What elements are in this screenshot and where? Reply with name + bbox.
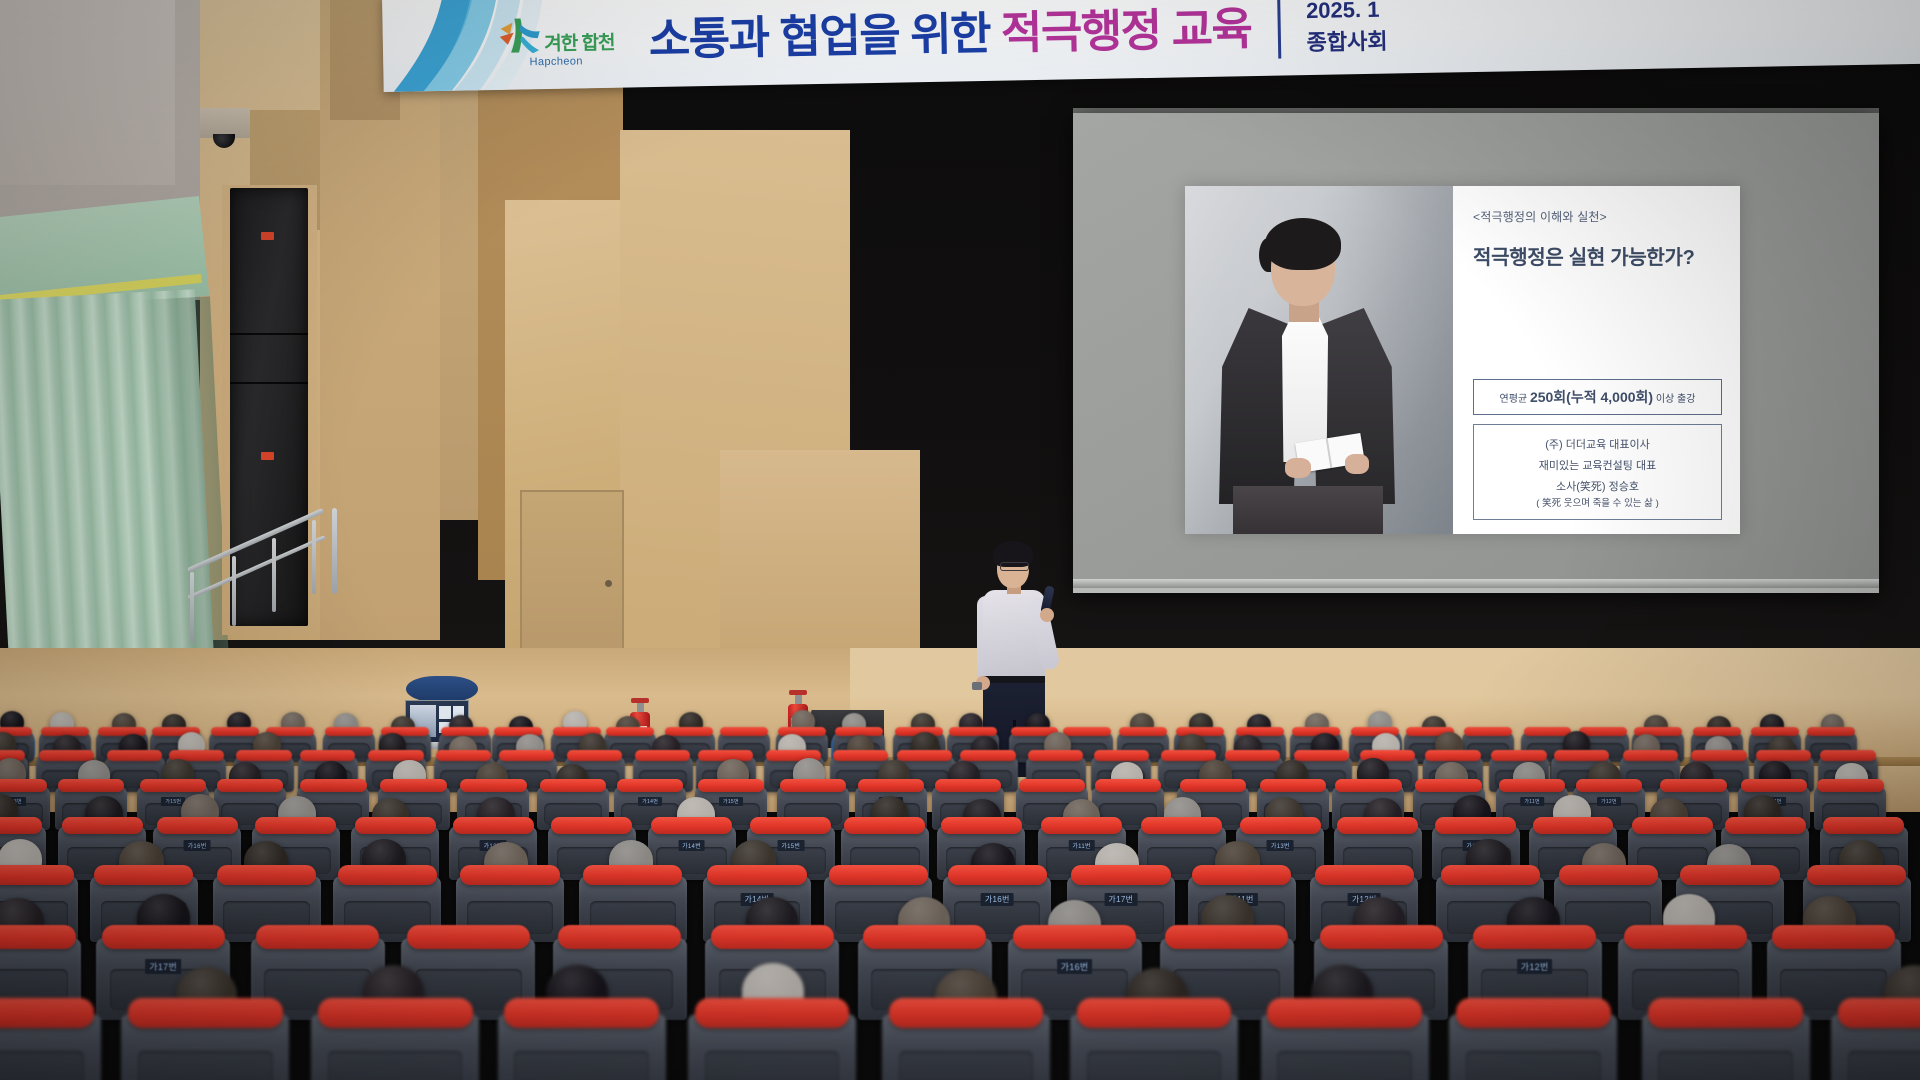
- handrail-post-2: [232, 556, 236, 626]
- seat-cushion: [0, 865, 74, 885]
- handrail-post-1: [190, 572, 194, 642]
- seat-back-panel: [1277, 1051, 1411, 1080]
- seat-cushion: [665, 727, 713, 736]
- banner-title: 소통과 협업을 위한 적극행정 교육: [648, 6, 1251, 62]
- seat-cushion: [1807, 865, 1906, 885]
- seat-back-panel: [328, 1051, 462, 1080]
- seat-cushion: [780, 779, 846, 792]
- slide-kicker: <적극행정의 이해와 실천>: [1473, 208, 1722, 225]
- stat-emphasis: 250회(누적 4,000회): [1530, 389, 1653, 405]
- seat-cushion: [1337, 817, 1418, 833]
- seat-cushion: [1240, 817, 1321, 833]
- speaker-seam-1: [230, 333, 308, 335]
- slide-credits-box: (주) 더더교육 대표이사 재미있는 교육컨설팅 대표 소사(笑死) 정승호 (…: [1473, 424, 1722, 520]
- seat-back-panel: [1658, 1051, 1792, 1080]
- seat-cushion: [407, 925, 530, 950]
- slide-lecturer-photo: [1185, 186, 1453, 534]
- seat-cushion: [1441, 865, 1540, 885]
- seat-cushion: [1817, 779, 1883, 792]
- water-mark-icon: [497, 14, 542, 55]
- seat-cushion: [0, 817, 42, 833]
- seat-cushion: [1691, 750, 1746, 761]
- seat-cushion: [617, 779, 683, 792]
- seat-cushion: [1180, 779, 1246, 792]
- seat-cushion: [1435, 817, 1516, 833]
- presenter-hand-right: [1040, 608, 1054, 622]
- presenter-glasses-icon: [1000, 562, 1029, 571]
- seat-cushion: [1165, 925, 1288, 950]
- seat-cushion: [1838, 998, 1920, 1027]
- seat-cushion: [829, 865, 928, 885]
- seat-cushion: [1335, 779, 1401, 792]
- credit-line-3: 소사(笑死) 정승호: [1480, 477, 1715, 498]
- seat-cushion: [102, 925, 225, 950]
- seat-number-plate: 가12번: [1517, 959, 1553, 974]
- seat-cushion: [1751, 727, 1799, 736]
- seat-number-plate: 가14번: [638, 797, 662, 806]
- handrail-post-5: [332, 508, 337, 594]
- seat-cushion: [863, 925, 986, 950]
- seat-cushion: [698, 779, 764, 792]
- seat-cushion: [338, 865, 437, 885]
- seat-cushion: [949, 727, 997, 736]
- seat-cushion: [62, 817, 143, 833]
- seat-cushion: [833, 750, 888, 761]
- seat-cushion: [217, 865, 316, 885]
- logo-english-text: Hapcheon: [529, 55, 583, 68]
- seat-cushion: [1456, 998, 1611, 1027]
- seat-cushion: [635, 750, 690, 761]
- seat-number-plate: 가15번: [777, 840, 804, 851]
- seat-cushion: [58, 779, 124, 792]
- seat-cushion: [1267, 998, 1422, 1027]
- seat-cushion: [1680, 865, 1779, 885]
- seat-cushion: [1491, 750, 1546, 761]
- auditorium-seat[interactable]: [1070, 1014, 1238, 1080]
- seat-cushion: [1823, 817, 1904, 833]
- seat-cushion: [1161, 750, 1216, 761]
- presentation-slide: <적극행정의 이해와 실천> 적극행정은 실현 가능한가? 연평균 250회(누…: [1185, 186, 1740, 534]
- seat-cushion: [844, 817, 925, 833]
- credit-line-4: ( 笑死 웃으며 죽을 수 있는 삶 ): [1480, 498, 1715, 510]
- seat-cushion: [1176, 727, 1224, 736]
- seat-number-plate: 가16번: [981, 893, 1014, 906]
- seat-back-panel: [1848, 1051, 1920, 1080]
- photo-trousers: [1233, 486, 1383, 534]
- slide-title: 적극행정은 실현 가능한가?: [1473, 241, 1722, 270]
- auditorium-seat[interactable]: [0, 1014, 101, 1080]
- slide-stat-box: 연평균 250회(누적 4,000회) 이상 출강: [1473, 379, 1722, 415]
- seat-cushion: [1464, 727, 1512, 736]
- seat-cushion: [1559, 865, 1658, 885]
- seat-cushion: [128, 998, 283, 1027]
- seat-cushion: [1473, 925, 1596, 950]
- seat-number-plate: 가17번: [145, 959, 181, 974]
- seat-cushion: [1260, 779, 1326, 792]
- seat-cushion: [1576, 779, 1642, 792]
- seat-cushion: [695, 998, 850, 1027]
- slide-text-column: <적극행정의 이해와 실천> 적극행정은 실현 가능한가? 연평균 250회(누…: [1453, 186, 1740, 534]
- credit-line-1: (주) 더더교육 대표이사: [1480, 435, 1715, 456]
- seat-cushion: [39, 750, 94, 761]
- seat-cushion: [1632, 817, 1713, 833]
- auditorium-seat[interactable]: [121, 1014, 289, 1080]
- seat-back-panel: [899, 1051, 1033, 1080]
- seat-cushion: [551, 817, 632, 833]
- seat-cushion: [499, 750, 554, 761]
- seat-cushion: [750, 817, 831, 833]
- seat-number-plate: 가15번: [719, 797, 743, 806]
- seat-cushion: [94, 865, 193, 885]
- seat-back-panel: [1466, 1051, 1600, 1080]
- seat-cushion: [897, 750, 952, 761]
- seat-cushion: [453, 817, 534, 833]
- seat-cushion: [1554, 750, 1609, 761]
- seat-cushion: [720, 727, 768, 736]
- logo-korean-text: 겨한 합천: [544, 34, 615, 54]
- auditorium-photo: <적극행정의 이해와 실천> 적극행정은 실현 가능한가? 연평균 250회(누…: [0, 0, 1920, 1080]
- seat-cushion: [1063, 727, 1111, 736]
- seat-cushion: [1141, 817, 1222, 833]
- seat-cushion: [211, 727, 259, 736]
- auditorium-seat[interactable]: [1449, 1014, 1617, 1080]
- auditorium-seat[interactable]: [1831, 1014, 1920, 1080]
- seat-cushion: [460, 865, 559, 885]
- seat-cushion: [1095, 779, 1161, 792]
- jbl-logo-icon-2: [261, 452, 274, 460]
- seat-cushion: [355, 817, 436, 833]
- presenter-belt: [983, 676, 1045, 683]
- seat-cushion: [1660, 779, 1726, 792]
- seat-cushion: [1415, 779, 1481, 792]
- auditorium-seat[interactable]: [1261, 1014, 1429, 1080]
- auditorium-seat[interactable]: [311, 1014, 479, 1080]
- seat-cushion: [558, 925, 681, 950]
- seat-cushion: [0, 779, 47, 792]
- seat-cushion: [0, 998, 94, 1027]
- door-handle-icon[interactable]: [605, 580, 612, 587]
- seat-back-panel: [705, 1051, 839, 1080]
- seat-cushion: [707, 865, 806, 885]
- audience-seating: 가13번가15번가14번가15번가17번가11번가12번가14번가16번가12번…: [0, 740, 1920, 1080]
- seat-back-panel: [514, 1051, 648, 1080]
- auditorium-seat[interactable]: [688, 1014, 856, 1080]
- banner-meta: 2025. 1 종합사회: [1306, 0, 1388, 59]
- seat-cushion: [1756, 750, 1811, 761]
- auditorium-seat[interactable]: [498, 1014, 666, 1080]
- seat-cushion: [318, 998, 473, 1027]
- seat-cushion: [236, 750, 291, 761]
- projector-screen-weight-bar: [1073, 579, 1879, 588]
- seat-back-panel: [0, 1051, 84, 1080]
- seat-cushion: [567, 750, 622, 761]
- handrail-post-4: [312, 520, 316, 594]
- seat-cushion: [460, 779, 526, 792]
- auditorium-seat[interactable]: [1642, 1014, 1810, 1080]
- seat-number-plate: 가13번: [1267, 840, 1294, 851]
- jbl-logo-icon: [261, 232, 274, 240]
- seat-cushion: [1225, 750, 1280, 761]
- seat-cushion: [1693, 727, 1741, 736]
- seat-cushion: [948, 865, 1047, 885]
- logo-korean-prefix: 겨한 합천: [544, 33, 615, 55]
- seat-cushion: [436, 750, 491, 761]
- seat-cushion: [1294, 750, 1349, 761]
- seat-cushion: [889, 998, 1044, 1027]
- seat-cushion: [1499, 779, 1565, 792]
- ceiling-plaster-upper: [0, 0, 175, 185]
- seat-cushion: [1807, 727, 1855, 736]
- seat-cushion: [1077, 998, 1232, 1027]
- seat-number-plate: 가12번: [1597, 797, 1621, 806]
- banner-divider: [1277, 0, 1281, 59]
- blue-stage-chair: [406, 676, 478, 702]
- seat-cushion: [1624, 925, 1747, 950]
- stat-suffix: 이상 출강: [1653, 394, 1695, 405]
- banner-title-part2: 적극행정 교육: [1001, 3, 1252, 59]
- speaker-seam-2: [230, 382, 308, 384]
- seat-cushion: [606, 727, 654, 736]
- presentation-clicker: [972, 682, 982, 690]
- seat-cushion: [0, 925, 76, 950]
- hapcheon-logo: 겨한 합천 Hapcheon: [492, 13, 619, 69]
- banner-meta-date: 2025. 1: [1306, 0, 1388, 27]
- seat-cushion: [441, 727, 489, 736]
- handrail-post-3: [272, 538, 276, 612]
- seat-cushion: [1013, 925, 1136, 950]
- seat-number-plate: 가16번: [184, 840, 211, 851]
- seat-cushion: [368, 750, 423, 761]
- seat-cushion: [858, 779, 924, 792]
- seat-cushion: [255, 817, 336, 833]
- seat-cushion: [1648, 998, 1803, 1027]
- seat-cushion: [1071, 865, 1170, 885]
- seat-cushion: [1725, 817, 1806, 833]
- banner-title-part1: 소통과 협업을 위한: [648, 7, 990, 64]
- seat-number-plate: 가11번: [1520, 797, 1544, 806]
- seat-cushion: [960, 750, 1015, 761]
- seat-cushion: [256, 925, 379, 950]
- seat-cushion: [1741, 779, 1807, 792]
- photo-hand-right: [1345, 454, 1369, 474]
- seat-cushion: [157, 817, 238, 833]
- seat-cushion: [711, 925, 834, 950]
- seat-cushion: [1094, 750, 1149, 761]
- auditorium-seat[interactable]: [882, 1014, 1050, 1080]
- seat-cushion: [140, 779, 206, 792]
- seat-back-panel: [138, 1051, 272, 1080]
- seat-cushion: [935, 779, 1001, 792]
- seat-cushion: [1320, 925, 1443, 950]
- seat-cushion: [583, 865, 682, 885]
- seat-cushion: [300, 750, 355, 761]
- wood-wall-panel-9: [720, 450, 920, 680]
- seat-cushion: [1533, 817, 1614, 833]
- seat-cushion: [941, 817, 1022, 833]
- seat-number-plate: 가16번: [1057, 959, 1093, 974]
- seat-cushion: [651, 817, 732, 833]
- photo-hand-left: [1285, 458, 1311, 478]
- seat-cushion: [1119, 727, 1167, 736]
- seat-cushion: [1041, 817, 1122, 833]
- seat-cushion: [504, 998, 659, 1027]
- seat-cushion: [1425, 750, 1480, 761]
- credit-line-2: 재미있는 교육컨설팅 대표: [1480, 456, 1715, 477]
- stat-prefix: 연평균: [1500, 394, 1530, 405]
- seat-cushion: [1623, 750, 1678, 761]
- seat-cushion: [217, 779, 283, 792]
- seat-cushion: [1315, 865, 1414, 885]
- seat-number-plate: 가14번: [678, 840, 705, 851]
- seat-cushion: [325, 727, 373, 736]
- seat-cushion: [380, 779, 446, 792]
- seat-cushion: [1524, 727, 1572, 736]
- seat-cushion: [107, 750, 162, 761]
- seat-number-plate: 가17번: [1104, 893, 1137, 906]
- seat-cushion: [1028, 750, 1083, 761]
- seat-cushion: [1192, 865, 1291, 885]
- seat-cushion: [540, 779, 606, 792]
- seat-cushion: [1772, 925, 1895, 950]
- seat-cushion: [1019, 779, 1085, 792]
- laptop-ui-tile-1: [439, 706, 451, 719]
- banner-meta-place: 종합사회: [1306, 26, 1388, 59]
- seat-cushion: [1820, 750, 1875, 761]
- seat-cushion: [300, 779, 366, 792]
- seat-back-panel: [1087, 1051, 1221, 1080]
- photo-hair: [1265, 218, 1341, 270]
- seat-number-plate: 가11번: [1068, 840, 1094, 851]
